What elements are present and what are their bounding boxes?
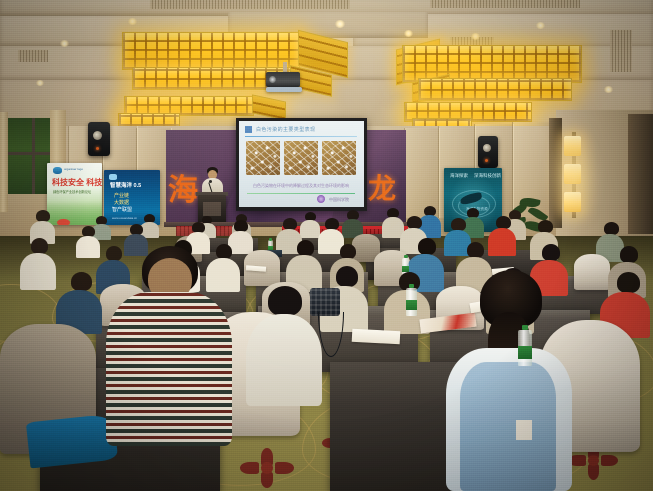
banner-blue-headline: 智慧海洋 0.5 <box>110 184 141 190</box>
attendee-shoulders <box>300 220 320 238</box>
handout-document <box>352 329 401 344</box>
speaker-cone-right <box>483 144 491 152</box>
slide-footer-rule <box>247 193 355 194</box>
attendee-hair <box>617 272 640 293</box>
list-item <box>20 238 56 290</box>
ceiling-grille-far-right <box>610 30 632 72</box>
bottle-cap <box>409 284 414 288</box>
pendant-lamp-left-upper <box>122 32 300 70</box>
bottle-label <box>406 300 417 310</box>
conference-room-photo: 海 龙 白色污染的主要类型表现 白色污染物在环境中的降解过程及其对生态环境的影响… <box>0 0 653 491</box>
speaker-led-left <box>96 147 99 150</box>
slide-micrograph-3 <box>322 141 356 175</box>
attendee-hair <box>71 272 92 291</box>
attendee-hair <box>31 238 48 254</box>
projector-base-plate <box>266 87 302 92</box>
downlight-1 <box>60 40 69 47</box>
carpet-medallion <box>240 448 294 488</box>
blue-vest-attendee <box>446 270 572 491</box>
window-mullion-h <box>8 152 50 155</box>
microphone-head <box>209 180 212 183</box>
slide-title-rule <box>245 136 357 137</box>
attendee-vest <box>460 362 556 491</box>
attendee-shoulders <box>488 228 516 256</box>
slide-footer-text: 中国科学院 <box>329 197 349 203</box>
projector-mount <box>283 62 287 72</box>
backdrop-character-left: 海 <box>168 176 198 206</box>
attendee-hair <box>467 242 484 258</box>
banner-green-logo-text: organiser logo <box>64 168 83 171</box>
attendee-torso <box>106 292 232 446</box>
banner-blue-line2: 产业链 <box>114 194 129 199</box>
red-shirt-attendee <box>488 216 516 256</box>
attendee-hair <box>340 244 356 259</box>
attendee-badge <box>516 420 532 440</box>
attendee-hair <box>418 238 436 255</box>
ceiling-mounted-projector <box>266 72 300 87</box>
list-item <box>300 212 320 238</box>
attendee-hair <box>297 240 314 256</box>
downlight-11 <box>36 80 44 86</box>
banner-green-headline: 科技安全 科技共享 <box>52 179 102 187</box>
wall-panel-4 <box>404 128 440 218</box>
projection-screen[interactable]: 白色污染的主要类型表现 白色污染物在环境中的降解过程及其对生态环境的影响 中国科… <box>239 121 364 207</box>
attendee-hair <box>620 246 638 263</box>
wall-pilaster-far-right <box>628 114 653 234</box>
chair-sash <box>26 414 118 469</box>
banner-blue-subline: www.oceandata.cn <box>112 217 137 220</box>
bottle-label <box>518 346 532 359</box>
speaker-led-right <box>485 159 488 162</box>
projector-lens <box>269 76 276 83</box>
water-bottle <box>518 330 532 366</box>
attendee-hair <box>268 286 302 316</box>
window-mullion-v <box>32 118 35 194</box>
window-with-foliage <box>8 118 50 194</box>
banner-teal-line2: 深海科技创新 <box>474 174 501 179</box>
attendee-shoulders <box>20 253 56 290</box>
bottle-cap <box>522 325 528 330</box>
attendee-hair <box>336 266 358 287</box>
speaker-cone-left <box>93 131 102 140</box>
banner-blue-line4: 智产联盟 <box>112 208 132 213</box>
pendant-lamp-right-mid <box>418 78 572 101</box>
attendee-shoulders <box>246 314 322 406</box>
slide-micrograph-1 <box>246 141 280 175</box>
ceiling-grille-top <box>150 0 350 9</box>
ceiling-grille-right-top <box>430 0 580 8</box>
wall-speaker-right <box>478 136 498 168</box>
bottle-cap <box>404 255 408 258</box>
pendant-lamp-left-bottom <box>118 113 180 127</box>
attendee-hair <box>542 244 560 261</box>
banner-blue-logo <box>109 174 117 180</box>
wall-speaker-left <box>88 122 110 156</box>
downlight-3 <box>335 20 345 28</box>
striped-shirt-attendee <box>106 246 232 446</box>
slide-caption: 白色污染物在环境中的降解过程及其对生态环境的影响 <box>253 183 349 189</box>
lectern-front-plate <box>203 202 221 216</box>
window-curtain-left <box>0 112 8 212</box>
sconce-glow <box>548 130 598 225</box>
banner-green-subline: 绿色环保产业技术创新论坛 <box>53 191 91 194</box>
banner-blue-line3: 大数据 <box>114 201 129 206</box>
slide-footer-logo <box>317 195 325 203</box>
slide-title: 白色污染的主要类型表现 <box>256 126 315 133</box>
water-bottle <box>406 288 417 316</box>
banner-green-logo <box>53 167 62 174</box>
bottle-cap <box>269 238 272 241</box>
ceiling-grille-left <box>18 50 48 62</box>
slide-micrograph-2 <box>284 141 318 175</box>
banner-teal-headline: 海洋探索 <box>450 174 468 179</box>
slide-bullet-marker <box>245 126 252 133</box>
list-item <box>246 286 322 406</box>
downlight-10 <box>604 86 613 93</box>
backdrop-character-right: 龙 <box>368 176 396 204</box>
